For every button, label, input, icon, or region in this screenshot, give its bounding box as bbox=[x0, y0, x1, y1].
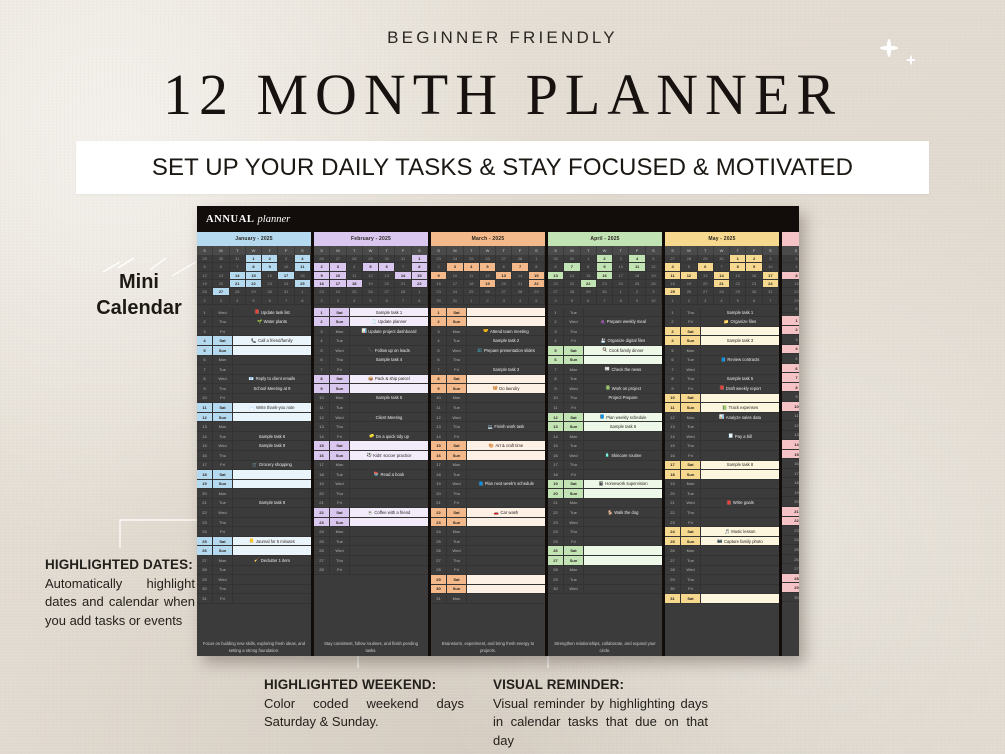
mini-calendar-day[interactable]: 31 bbox=[395, 255, 411, 263]
mini-calendar-day[interactable]: 11 bbox=[295, 263, 311, 271]
mini-calendar-day[interactable]: 22 bbox=[581, 280, 597, 288]
day-task-row[interactable]: 31Sat bbox=[665, 594, 779, 604]
day-number[interactable]: 2 bbox=[782, 326, 799, 336]
mini-calendar-day[interactable]: 5 bbox=[363, 263, 379, 271]
mini-calendar-day[interactable]: 10 bbox=[763, 263, 779, 271]
day-task-text[interactable]: 📧Reply to client emails bbox=[233, 375, 311, 384]
day-task-text[interactable] bbox=[467, 489, 545, 498]
day-task-text[interactable]: Sample task 3 bbox=[701, 336, 779, 345]
mini-calendar-day[interactable]: 28 bbox=[230, 288, 246, 296]
mini-calendar-day[interactable]: 26 bbox=[646, 280, 662, 288]
mini-calendar-day[interactable]: 9 bbox=[597, 263, 613, 271]
day-task-text[interactable]: 🛒Grocery shopping bbox=[233, 461, 311, 470]
mini-calendar-day[interactable]: 9 bbox=[629, 296, 645, 304]
day-task-text[interactable] bbox=[584, 327, 662, 336]
mini-calendar-day[interactable]: 15 bbox=[581, 272, 597, 280]
day-task-text[interactable] bbox=[233, 508, 311, 517]
day-task-text[interactable]: Sample task 1 bbox=[350, 308, 428, 317]
day-task-text[interactable]: 📓Homework supervision bbox=[584, 480, 662, 489]
day-task-text[interactable]: Sample task 5 bbox=[701, 375, 779, 384]
mini-calendar-day[interactable]: 28 bbox=[564, 288, 580, 296]
mini-calendar-day[interactable]: 25 bbox=[665, 288, 681, 296]
mini-calendar-day[interactable]: 8 bbox=[412, 263, 428, 271]
day-task-row[interactable]: 31Mon bbox=[431, 594, 545, 604]
day-task-text[interactable] bbox=[584, 489, 662, 498]
mini-calendar-day[interactable]: 24 bbox=[447, 288, 463, 296]
day-task-row[interactable]: 8Tue bbox=[548, 375, 662, 385]
mini-calendar-day[interactable]: 2 bbox=[629, 288, 645, 296]
day-number[interactable]: 25 bbox=[782, 545, 799, 555]
mini-calendar-day[interactable]: 21 bbox=[512, 280, 528, 288]
mini-calendar-day[interactable]: 31 bbox=[763, 288, 779, 296]
day-task-row[interactable]: 27Thu bbox=[314, 556, 428, 566]
mini-calendar-day[interactable]: 17 bbox=[763, 272, 779, 280]
mini-calendar-day[interactable]: 30 bbox=[379, 255, 395, 263]
mini-calendar-day[interactable]: 28 bbox=[347, 255, 363, 263]
day-task-row[interactable]: 8Sat bbox=[431, 375, 545, 385]
day-task-row[interactable]: 27Tue bbox=[665, 556, 779, 566]
day-task-row[interactable]: 1Sat bbox=[431, 308, 545, 318]
day-task-text[interactable] bbox=[233, 546, 311, 555]
mini-calendar-day[interactable]: 12 bbox=[197, 272, 213, 280]
day-task-text[interactable]: 📕Draft weekly report bbox=[701, 384, 779, 393]
mini-calendar-day[interactable]: 23 bbox=[431, 288, 447, 296]
mini-calendar-day[interactable]: 6 bbox=[496, 263, 512, 271]
day-task-text[interactable]: 📘Review contracts bbox=[701, 356, 779, 365]
day-task-row[interactable]: 26Wed bbox=[431, 546, 545, 556]
mini-calendar-day[interactable]: 26 bbox=[314, 255, 330, 263]
mini-calendar-day[interactable]: 20 bbox=[496, 280, 512, 288]
day-task-row[interactable]: 10Sat bbox=[665, 394, 779, 404]
day-task-row[interactable]: 12Sat📘Plan weekly schedule bbox=[548, 413, 662, 423]
day-task-text[interactable]: 📘Plan weekly schedule bbox=[584, 413, 662, 422]
mini-calendar-day[interactable]: 1 bbox=[581, 255, 597, 263]
day-task-row[interactable]: 21Mon bbox=[548, 499, 662, 509]
mini-calendar-day[interactable]: 30 bbox=[548, 255, 564, 263]
mini-calendar-day[interactable]: 12 bbox=[480, 272, 496, 280]
mini-calendar-day[interactable]: 30 bbox=[431, 296, 447, 304]
day-task-row[interactable]: 6Thu bbox=[431, 356, 545, 366]
day-task-text[interactable]: Sample task 8 bbox=[701, 461, 779, 470]
day-task-text[interactable] bbox=[233, 394, 311, 403]
day-task-text[interactable]: Sample task 8 bbox=[233, 499, 311, 508]
day-task-text[interactable] bbox=[467, 537, 545, 546]
mini-calendar-day[interactable]: 20 bbox=[698, 280, 714, 288]
day-task-row[interactable]: 30Wed bbox=[548, 585, 662, 595]
day-task-row[interactable]: 14Wed🧾Pay a bill bbox=[665, 432, 779, 442]
mini-calendar-day[interactable]: 7 bbox=[395, 263, 411, 271]
mini-calendar-day[interactable]: 2 bbox=[746, 255, 762, 263]
day-task-text[interactable]: 📕Update task list bbox=[233, 308, 311, 317]
day-task-row[interactable]: 19Mon bbox=[665, 480, 779, 490]
mini-calendar-day[interactable]: 13 bbox=[213, 272, 229, 280]
mini-calendar-day[interactable]: 1 bbox=[246, 255, 262, 263]
day-task-row[interactable]: 14Mon bbox=[548, 432, 662, 442]
mini-calendar-day[interactable]: 22 bbox=[246, 280, 262, 288]
day-task-row[interactable]: 18Tue bbox=[431, 470, 545, 480]
day-task-text[interactable] bbox=[701, 585, 779, 594]
mini-calendar-day[interactable]: 22 bbox=[782, 288, 799, 296]
mini-calendar-day[interactable]: 16 bbox=[431, 280, 447, 288]
day-task-row[interactable]: 25Tue bbox=[431, 537, 545, 547]
mini-calendar-day[interactable]: 8 bbox=[581, 263, 597, 271]
mini-calendar-day[interactable]: 20 bbox=[213, 280, 229, 288]
mini-calendar-day[interactable]: 6 bbox=[379, 296, 395, 304]
mini-calendar-day[interactable]: 17 bbox=[330, 280, 346, 288]
day-task-row[interactable]: 15WedSample task 9 bbox=[197, 441, 311, 451]
mini-calendar-day[interactable]: 28 bbox=[395, 288, 411, 296]
day-task-row[interactable]: 13Tue bbox=[665, 422, 779, 432]
mini-calendar-day[interactable]: 4 bbox=[714, 296, 730, 304]
mini-calendar-day[interactable]: 27 bbox=[330, 255, 346, 263]
day-task-row[interactable]: 11Tue bbox=[431, 403, 545, 413]
mini-calendar-day[interactable]: 23 bbox=[746, 280, 762, 288]
mini-calendar-day[interactable]: 5 bbox=[246, 296, 262, 304]
day-task-row[interactable]: 22Wed bbox=[197, 508, 311, 518]
day-task-row[interactable]: 17SatSample task 8 bbox=[665, 461, 779, 471]
mini-calendar-day[interactable]: 16 bbox=[314, 280, 330, 288]
day-number[interactable]: 7 bbox=[782, 373, 799, 383]
day-task-row[interactable]: 16Sun⚽Kids' soccer practice bbox=[314, 451, 428, 461]
day-task-row[interactable]: 21Wed📕Write goals bbox=[665, 499, 779, 509]
day-task-row[interactable]: 9ThuSchool Meeting at 9 bbox=[197, 384, 311, 394]
day-task-text[interactable] bbox=[467, 518, 545, 527]
day-task-row[interactable]: 4TueSample task 2 bbox=[431, 336, 545, 346]
day-task-row[interactable]: 10MonSample task 5 bbox=[314, 394, 428, 404]
mini-calendar-day[interactable]: 15 bbox=[529, 272, 545, 280]
day-task-text[interactable]: 🗒️Update planner bbox=[350, 317, 428, 326]
day-task-text[interactable] bbox=[350, 461, 428, 470]
day-task-text[interactable] bbox=[701, 441, 779, 450]
mini-calendar-day[interactable]: 18 bbox=[295, 272, 311, 280]
mini-calendar-day[interactable]: 10 bbox=[447, 272, 463, 280]
day-task-text[interactable] bbox=[701, 480, 779, 489]
day-task-text[interactable] bbox=[467, 451, 545, 460]
day-task-row[interactable]: 28Tue bbox=[197, 566, 311, 576]
day-task-row[interactable]: 7Wed bbox=[665, 365, 779, 375]
day-task-row[interactable]: 8Sat📦Pack & ship parcel bbox=[314, 375, 428, 385]
day-task-text[interactable]: Sample task 2 bbox=[467, 336, 545, 345]
day-task-row[interactable]: 29Sat bbox=[431, 575, 545, 585]
day-task-text[interactable] bbox=[701, 365, 779, 374]
mini-calendar-day[interactable]: 4 bbox=[347, 263, 363, 271]
mini-calendar-day[interactable]: 14 bbox=[395, 272, 411, 280]
day-task-row[interactable]: 13SunSample task 6 bbox=[548, 422, 662, 432]
day-task-text[interactable]: Sample task 1 bbox=[701, 308, 779, 317]
day-number[interactable]: 13 bbox=[782, 431, 799, 441]
day-task-row[interactable]: 18Fri bbox=[548, 470, 662, 480]
mini-calendar-day[interactable]: 18 bbox=[665, 280, 681, 288]
day-task-text[interactable] bbox=[467, 461, 545, 470]
mini-calendar-day[interactable]: 23 bbox=[314, 288, 330, 296]
day-task-row[interactable]: 4Sat📞Call a friend/family bbox=[197, 336, 311, 346]
day-task-text[interactable]: 📊Analyze sales data bbox=[701, 413, 779, 422]
mini-calendar-day[interactable]: 3 bbox=[330, 296, 346, 304]
mini-calendar-day[interactable]: 3 bbox=[447, 263, 463, 271]
mini-calendar-day[interactable]: 5 bbox=[363, 296, 379, 304]
mini-calendar-day[interactable]: 10 bbox=[613, 263, 629, 271]
day-task-text[interactable] bbox=[467, 566, 545, 575]
day-number[interactable]: 18 bbox=[782, 478, 799, 488]
mini-calendar-day[interactable]: 24 bbox=[330, 288, 346, 296]
mini-calendar-day[interactable]: 22 bbox=[529, 280, 545, 288]
mini-calendar-day[interactable]: 9 bbox=[746, 263, 762, 271]
day-task-text[interactable] bbox=[701, 470, 779, 479]
mini-calendar-day[interactable]: 13 bbox=[496, 272, 512, 280]
day-task-row[interactable]: 28Fri bbox=[314, 566, 428, 576]
day-task-row[interactable]: 26Sat bbox=[548, 546, 662, 556]
day-task-text[interactable] bbox=[584, 546, 662, 555]
mini-calendar-day[interactable]: 29 bbox=[782, 296, 799, 304]
mini-calendar-day[interactable]: 11 bbox=[464, 272, 480, 280]
day-task-text[interactable] bbox=[233, 585, 311, 594]
mini-calendar-day[interactable]: 5 bbox=[681, 263, 697, 271]
day-number[interactable]: 29 bbox=[782, 583, 799, 593]
day-task-row[interactable]: 18Tue📚Read a book bbox=[314, 470, 428, 480]
mini-calendar-day[interactable]: 31 bbox=[564, 255, 580, 263]
mini-calendar-day[interactable]: 20 bbox=[379, 280, 395, 288]
day-task-row[interactable]: 14TueSample task 6 bbox=[197, 432, 311, 442]
day-task-text[interactable] bbox=[701, 451, 779, 460]
mini-calendar-day[interactable]: 19 bbox=[480, 280, 496, 288]
mini-calendar-day[interactable]: 4 bbox=[512, 296, 528, 304]
mini-calendar-day[interactable]: 15 bbox=[730, 272, 746, 280]
day-task-row[interactable]: 9Wed📗Work on project bbox=[548, 384, 662, 394]
day-task-text[interactable]: 🐕Walk the dog bbox=[584, 508, 662, 517]
day-task-text[interactable] bbox=[233, 451, 311, 460]
mini-calendar-day[interactable]: 3 bbox=[278, 255, 294, 263]
day-task-row[interactable]: 4Tue bbox=[314, 336, 428, 346]
mini-calendar-day[interactable]: 18 bbox=[347, 280, 363, 288]
day-task-row[interactable]: 16Thu bbox=[197, 451, 311, 461]
day-task-text[interactable]: 🧹Declutter 1 item bbox=[233, 556, 311, 565]
mini-calendar-day[interactable]: 3 bbox=[763, 255, 779, 263]
mini-calendar-day[interactable]: 1 bbox=[412, 255, 428, 263]
mini-calendar-day[interactable]: 10 bbox=[278, 263, 294, 271]
day-task-text[interactable] bbox=[350, 518, 428, 527]
mini-calendar-day[interactable]: 25 bbox=[464, 255, 480, 263]
day-task-row[interactable]: 29Wed bbox=[197, 575, 311, 585]
day-task-row[interactable]: 1Tue bbox=[548, 308, 662, 318]
day-task-text[interactable]: Sample task 4 bbox=[350, 356, 428, 365]
day-task-text[interactable]: School Meeting at 9 bbox=[233, 384, 311, 393]
day-task-text[interactable] bbox=[584, 375, 662, 384]
mini-calendar-day[interactable]: 2 bbox=[431, 263, 447, 271]
day-number[interactable]: 21 bbox=[782, 507, 799, 517]
day-number[interactable]: 17 bbox=[782, 469, 799, 479]
day-task-text[interactable] bbox=[467, 356, 545, 365]
mini-calendar-day[interactable]: 28 bbox=[681, 255, 697, 263]
day-task-row[interactable]: 20Tue bbox=[665, 489, 779, 499]
mini-calendar-day[interactable]: 7 bbox=[278, 296, 294, 304]
mini-calendar-day[interactable]: 25 bbox=[629, 280, 645, 288]
day-task-text[interactable] bbox=[350, 489, 428, 498]
day-task-row[interactable]: 30Fri bbox=[665, 585, 779, 595]
mini-calendar-day[interactable]: 30 bbox=[714, 255, 730, 263]
day-number[interactable]: 27 bbox=[782, 564, 799, 574]
day-task-row[interactable]: 3Mon🤝Attend team meeting bbox=[431, 327, 545, 337]
day-task-row[interactable]: 23Fri bbox=[665, 518, 779, 528]
day-task-row[interactable]: 5Sat🍳Cook family dinner bbox=[548, 346, 662, 356]
day-task-text[interactable]: Sample task 3 bbox=[467, 365, 545, 374]
mini-calendar-day[interactable]: 26 bbox=[480, 255, 496, 263]
day-task-text[interactable] bbox=[350, 336, 428, 345]
mini-calendar-day[interactable]: 13 bbox=[698, 272, 714, 280]
mini-calendar-day[interactable]: 28 bbox=[512, 255, 528, 263]
day-task-row[interactable]: 11Tue bbox=[314, 403, 428, 413]
day-task-text[interactable]: 📰Check the news bbox=[584, 365, 662, 374]
day-task-text[interactable]: 📕Write goals bbox=[701, 499, 779, 508]
mini-calendar-day[interactable]: 6 bbox=[548, 263, 564, 271]
day-task-text[interactable]: 🤝Attend team meeting bbox=[467, 327, 545, 336]
day-task-row[interactable]: 11Sat✉️Write thank-you note bbox=[197, 403, 311, 413]
day-task-row[interactable]: 29Thu bbox=[665, 575, 779, 585]
day-number[interactable]: 14 bbox=[782, 440, 799, 450]
day-number[interactable]: 1 bbox=[782, 316, 799, 326]
day-number[interactable]: 8 bbox=[782, 383, 799, 393]
mini-calendar-day[interactable]: 12 bbox=[646, 263, 662, 271]
mini-calendar-day[interactable]: 2 bbox=[262, 255, 278, 263]
mini-calendar-day[interactable]: 3 bbox=[330, 263, 346, 271]
day-task-row[interactable]: 6Sun bbox=[548, 356, 662, 366]
day-task-row[interactable]: 19Wed bbox=[314, 480, 428, 490]
day-task-row[interactable]: 28Mon bbox=[548, 566, 662, 576]
day-task-text[interactable]: 🧾Pay a bill bbox=[701, 432, 779, 441]
mini-calendar-day[interactable]: 17 bbox=[278, 272, 294, 280]
day-task-row[interactable]: 21TueSample task 8 bbox=[197, 499, 311, 509]
day-task-text[interactable]: 📘Plan next week's schedule bbox=[467, 480, 545, 489]
day-task-text[interactable] bbox=[467, 308, 545, 317]
day-task-row[interactable]: 24Thu bbox=[548, 527, 662, 537]
mini-calendar-day[interactable]: 7 bbox=[564, 263, 580, 271]
day-task-row[interactable]: 11Fri bbox=[548, 403, 662, 413]
mini-calendar-day[interactable]: 19 bbox=[363, 280, 379, 288]
day-number[interactable]: 30 bbox=[782, 593, 799, 603]
day-task-row[interactable]: 9Sun bbox=[314, 384, 428, 394]
day-number[interactable]: 19 bbox=[782, 488, 799, 498]
mini-calendar-day[interactable]: 25 bbox=[295, 280, 311, 288]
day-task-text[interactable] bbox=[584, 537, 662, 546]
day-task-row[interactable]: 4Fri💾Organize digital files bbox=[548, 336, 662, 346]
day-task-text[interactable]: 📞Follow up on leads bbox=[350, 346, 428, 355]
day-task-row[interactable]: 14Fri bbox=[431, 432, 545, 442]
day-task-row[interactable]: 27Mon🧹Declutter 1 item bbox=[197, 556, 311, 566]
day-task-row[interactable]: 20Mon bbox=[197, 489, 311, 499]
day-task-text[interactable]: 📁Organize files bbox=[701, 317, 779, 326]
day-task-text[interactable] bbox=[584, 575, 662, 584]
mini-calendar-day[interactable]: 19 bbox=[197, 280, 213, 288]
day-task-row[interactable]: 10Mon bbox=[431, 394, 545, 404]
mini-calendar-day[interactable]: 27 bbox=[496, 255, 512, 263]
mini-calendar-day[interactable]: 30 bbox=[262, 288, 278, 296]
day-task-text[interactable] bbox=[584, 527, 662, 536]
day-task-text[interactable] bbox=[701, 546, 779, 555]
day-task-row[interactable]: 3Thu bbox=[548, 327, 662, 337]
day-task-text[interactable]: 💻Finish work task bbox=[467, 422, 545, 431]
mini-calendar-day[interactable]: 26 bbox=[681, 288, 697, 296]
mini-calendar-day[interactable]: 1 bbox=[464, 296, 480, 304]
day-task-row[interactable]: 23Sun bbox=[431, 518, 545, 528]
mini-calendar-day[interactable]: 11 bbox=[629, 263, 645, 271]
day-task-text[interactable] bbox=[584, 356, 662, 365]
mini-calendar-day[interactable]: 31 bbox=[447, 296, 463, 304]
mini-calendar-day[interactable]: 3 bbox=[213, 296, 229, 304]
day-task-text[interactable]: 📊Update project dashboard bbox=[350, 327, 428, 336]
day-task-text[interactable] bbox=[701, 508, 779, 517]
day-task-row[interactable]: 7Mon📰Check the news bbox=[548, 365, 662, 375]
day-task-text[interactable] bbox=[584, 499, 662, 508]
day-task-text[interactable] bbox=[467, 527, 545, 536]
day-task-row[interactable]: 1ThuSample task 1 bbox=[665, 308, 779, 318]
mini-calendar-day[interactable]: 23 bbox=[431, 255, 447, 263]
day-task-text[interactable] bbox=[584, 518, 662, 527]
mini-calendar-day[interactable]: 4 bbox=[230, 296, 246, 304]
day-task-text[interactable] bbox=[350, 422, 428, 431]
day-task-text[interactable] bbox=[467, 403, 545, 412]
day-task-text[interactable] bbox=[350, 556, 428, 565]
day-task-row[interactable]: 16Fri bbox=[665, 451, 779, 461]
day-task-row[interactable]: 12Wed bbox=[431, 413, 545, 423]
mini-calendar-day[interactable]: 28 bbox=[512, 288, 528, 296]
mini-calendar-day[interactable]: 17 bbox=[447, 280, 463, 288]
day-task-text[interactable]: 🚗Car wash bbox=[467, 508, 545, 517]
day-task-text[interactable] bbox=[467, 499, 545, 508]
day-task-text[interactable] bbox=[701, 566, 779, 575]
mini-calendar-day[interactable]: 24 bbox=[763, 280, 779, 288]
day-task-row[interactable]: 13Thu💻Finish work task bbox=[431, 422, 545, 432]
mini-calendar-day[interactable]: 2 bbox=[314, 296, 330, 304]
mini-calendar-day[interactable]: 4 bbox=[464, 263, 480, 271]
mini-calendar-day[interactable]: 2 bbox=[480, 296, 496, 304]
day-task-text[interactable]: 🍳Cook family dinner bbox=[584, 346, 662, 355]
mini-calendar-day[interactable]: 21 bbox=[395, 280, 411, 288]
day-task-row[interactable]: 15Sat🎨Art & craft time bbox=[431, 441, 545, 451]
mini-calendar-day[interactable]: 8 bbox=[782, 272, 799, 280]
mini-calendar-day[interactable]: 22 bbox=[730, 280, 746, 288]
mini-calendar-day[interactable]: 1 bbox=[295, 288, 311, 296]
day-task-text[interactable] bbox=[350, 384, 428, 393]
day-task-row[interactable]: 9Sun🧺Do laundry bbox=[431, 384, 545, 394]
day-task-row[interactable]: 20Sun bbox=[548, 489, 662, 499]
day-task-text[interactable] bbox=[701, 594, 779, 603]
day-task-text[interactable] bbox=[350, 441, 428, 450]
day-task-row[interactable]: 5Mon bbox=[665, 346, 779, 356]
mini-calendar-day[interactable]: 4 bbox=[548, 296, 564, 304]
mini-calendar-day[interactable]: 27 bbox=[548, 288, 564, 296]
day-task-text[interactable]: Sample task 6 bbox=[233, 432, 311, 441]
mini-calendar-day[interactable]: 11 bbox=[665, 272, 681, 280]
mini-calendar-day[interactable]: 29 bbox=[529, 288, 545, 296]
day-task-text[interactable] bbox=[584, 470, 662, 479]
mini-calendar-day[interactable]: 16 bbox=[262, 272, 278, 280]
day-task-text[interactable] bbox=[701, 422, 779, 431]
day-task-row[interactable]: 29Tue bbox=[548, 575, 662, 585]
day-task-text[interactable] bbox=[233, 365, 311, 374]
mini-calendar-day[interactable]: 29 bbox=[363, 255, 379, 263]
day-task-text[interactable]: 🎨Art & craft time bbox=[467, 441, 545, 450]
day-task-text[interactable]: 📒Journal for 5 minutes bbox=[233, 537, 311, 546]
mini-calendar-day[interactable]: 3 bbox=[698, 296, 714, 304]
mini-calendar-day[interactable]: 22 bbox=[412, 280, 428, 288]
day-task-text[interactable] bbox=[467, 556, 545, 565]
day-task-row[interactable]: 2Wed🍇Prepare weekly meal bbox=[548, 317, 662, 327]
mini-calendar-day[interactable]: 4 bbox=[665, 263, 681, 271]
day-number[interactable]: 26 bbox=[782, 555, 799, 565]
day-task-text[interactable]: ⚽Kids' soccer practice bbox=[350, 451, 428, 460]
day-task-row[interactable]: 25Fri bbox=[548, 537, 662, 547]
mini-calendar-day[interactable]: 24 bbox=[278, 280, 294, 288]
mini-calendar-day[interactable]: 17 bbox=[613, 272, 629, 280]
